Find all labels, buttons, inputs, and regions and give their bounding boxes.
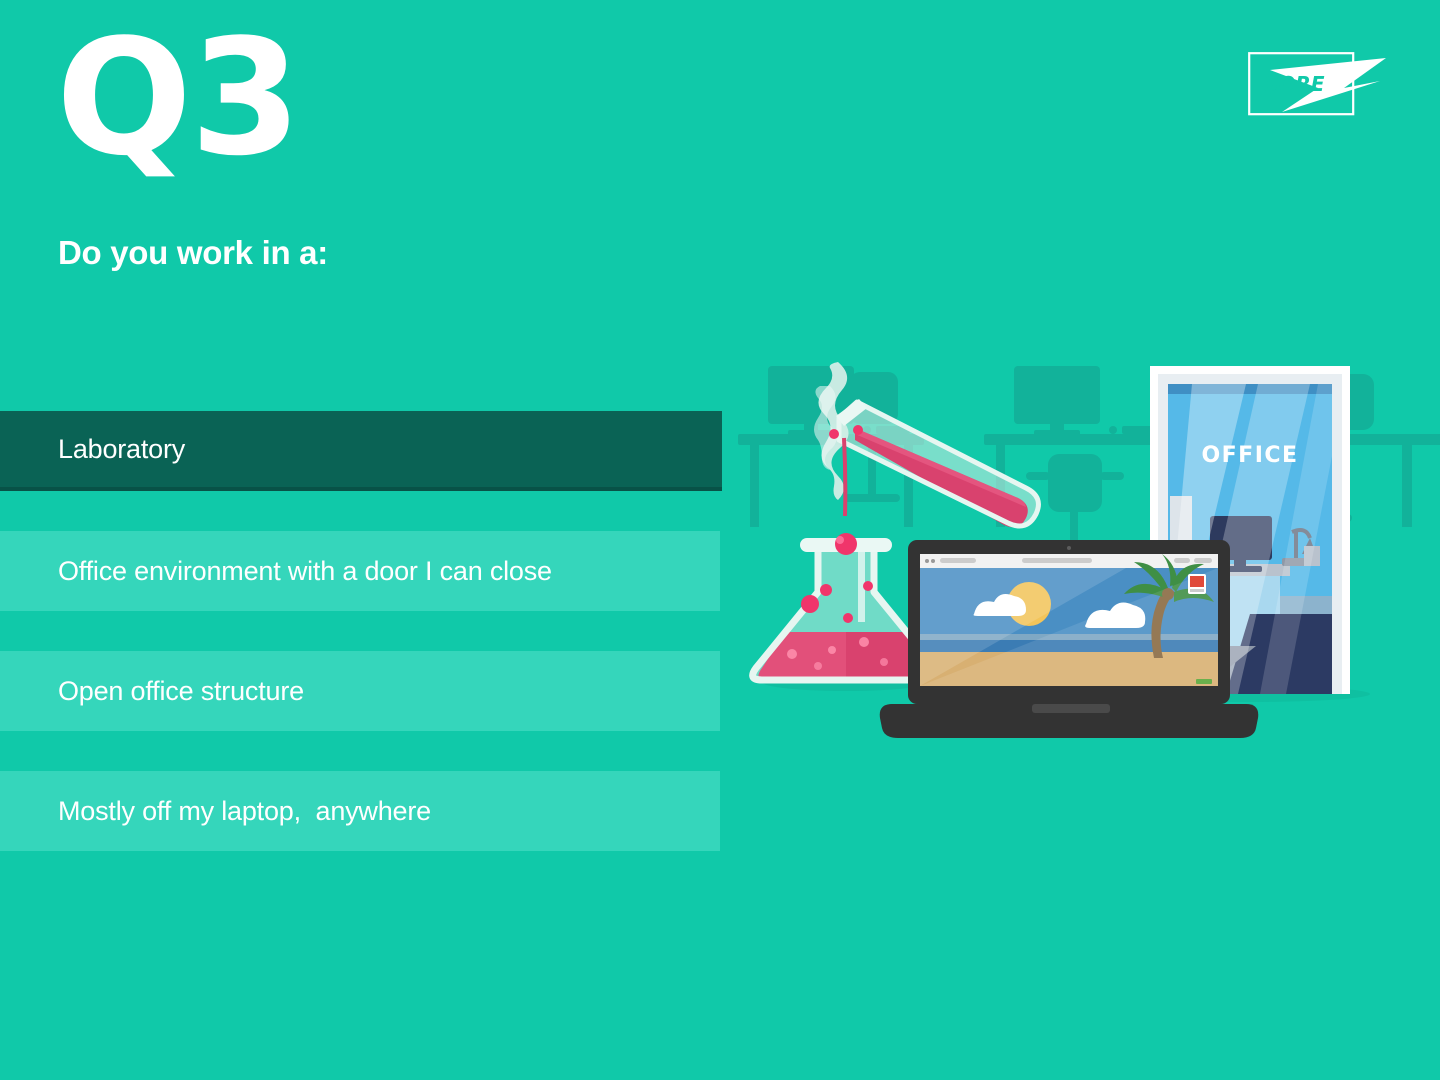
answer-option-mostly-laptop[interactable]: Mostly off my laptop, anywhere — [0, 771, 720, 851]
office-door-sign: OFFICE — [1201, 443, 1298, 468]
answer-option-label: Office environment with a door I can clo… — [58, 556, 552, 587]
test-tube — [829, 399, 1038, 527]
answer-option-label: Open office structure — [58, 676, 304, 707]
question-number: Q3 — [56, 18, 299, 178]
gore-logo-wordmark: GORE — [1262, 72, 1325, 96]
answer-option-office-with-door[interactable]: Office environment with a door I can clo… — [0, 531, 720, 611]
presentation-slide: Q3 Do you work in a: GORE Laboratory Off… — [0, 0, 1440, 1080]
answer-option-laboratory[interactable]: Laboratory — [0, 411, 722, 491]
workplace-illustration: OFFICE — [726, 346, 1440, 746]
gore-logo: GORE — [1248, 52, 1388, 116]
answer-option-open-office[interactable]: Open office structure — [0, 651, 720, 731]
answer-option-label: Mostly off my laptop, anywhere — [58, 796, 431, 827]
question-prompt: Do you work in a: — [58, 234, 328, 272]
laptop — [880, 540, 1259, 738]
answer-option-label: Laboratory — [58, 434, 185, 465]
